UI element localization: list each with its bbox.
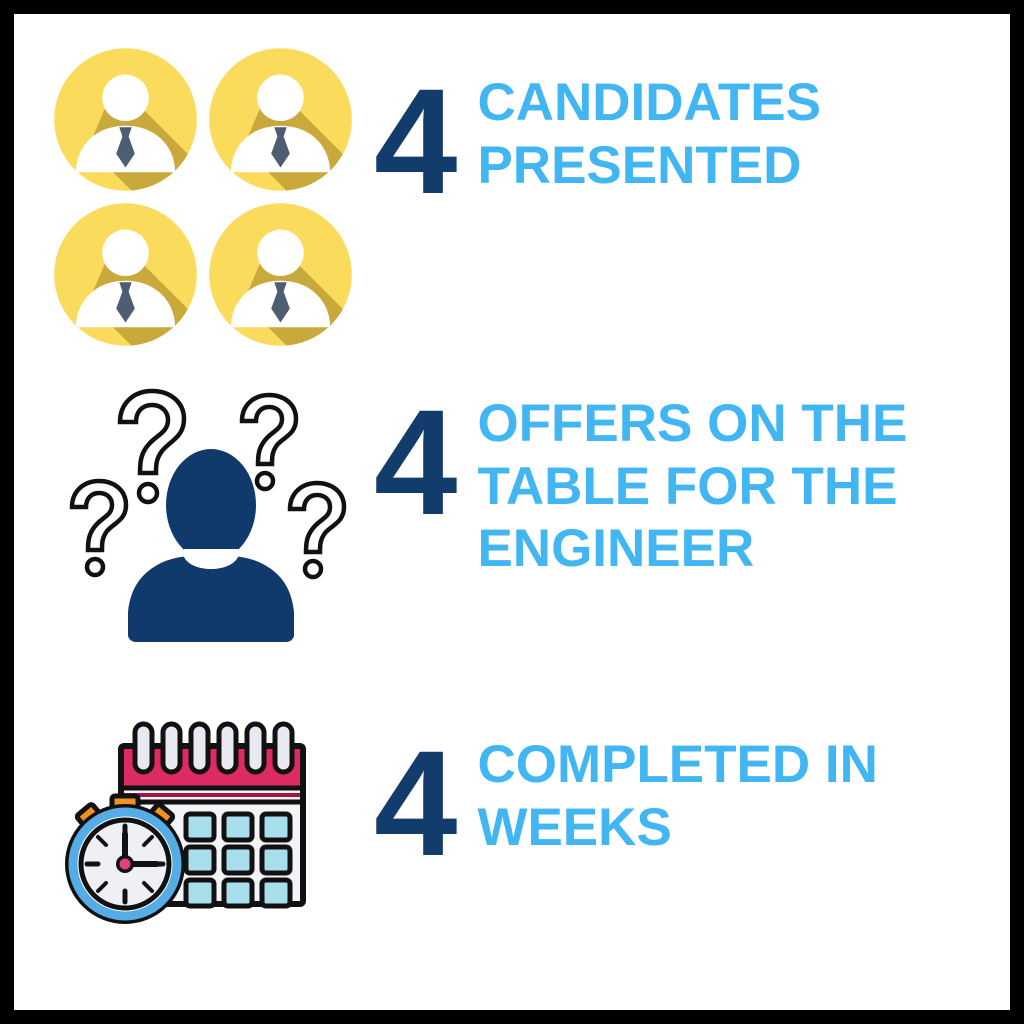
- confused-person-question-marks-icon: [66, 377, 356, 652]
- stat-label-candidates: CANDIDATES PRESENTED: [477, 72, 947, 197]
- four-person-avatars-icon: [48, 42, 348, 342]
- icon-cell-candidates: [14, 24, 374, 354]
- stat-row-completed-in-weeks: 4 COMPLETED IN WEEKS: [14, 704, 1010, 964]
- stat-label-offers: OFFERS ON THE TABLE FOR THE ENGINEER: [477, 393, 977, 581]
- stat-row-candidates-presented: 4 CANDIDATES PRESENTED: [14, 24, 1010, 354]
- calendar-stopwatch-icon: [59, 718, 369, 933]
- poster-canvas: 4 CANDIDATES PRESENTED: [14, 14, 1010, 1010]
- text-cell-candidates: 4 CANDIDATES PRESENTED: [374, 14, 1010, 402]
- person-avatar-icon: [48, 197, 203, 352]
- stat-number-candidates: 4: [374, 72, 455, 210]
- person-avatar-icon: [203, 197, 358, 352]
- person-avatar-icon: [203, 42, 358, 197]
- icon-cell-weeks: [14, 704, 374, 964]
- icon-cell-offers: [14, 369, 374, 669]
- stat-label-weeks: COMPLETED IN WEEKS: [477, 734, 947, 859]
- poster-frame: 4 CANDIDATES PRESENTED: [0, 0, 1024, 1024]
- text-cell-offers: 4 OFFERS ON THE TABLE FOR THE ENGINEER: [374, 345, 1010, 693]
- person-avatar-icon: [48, 42, 203, 197]
- stat-number-offers: 4: [374, 393, 455, 531]
- stat-number-weeks: 4: [374, 734, 455, 872]
- text-cell-weeks: 4 COMPLETED IN WEEKS: [374, 674, 1010, 994]
- stat-row-offers-on-the-table: 4 OFFERS ON THE TABLE FOR THE ENGINEER: [14, 369, 1010, 669]
